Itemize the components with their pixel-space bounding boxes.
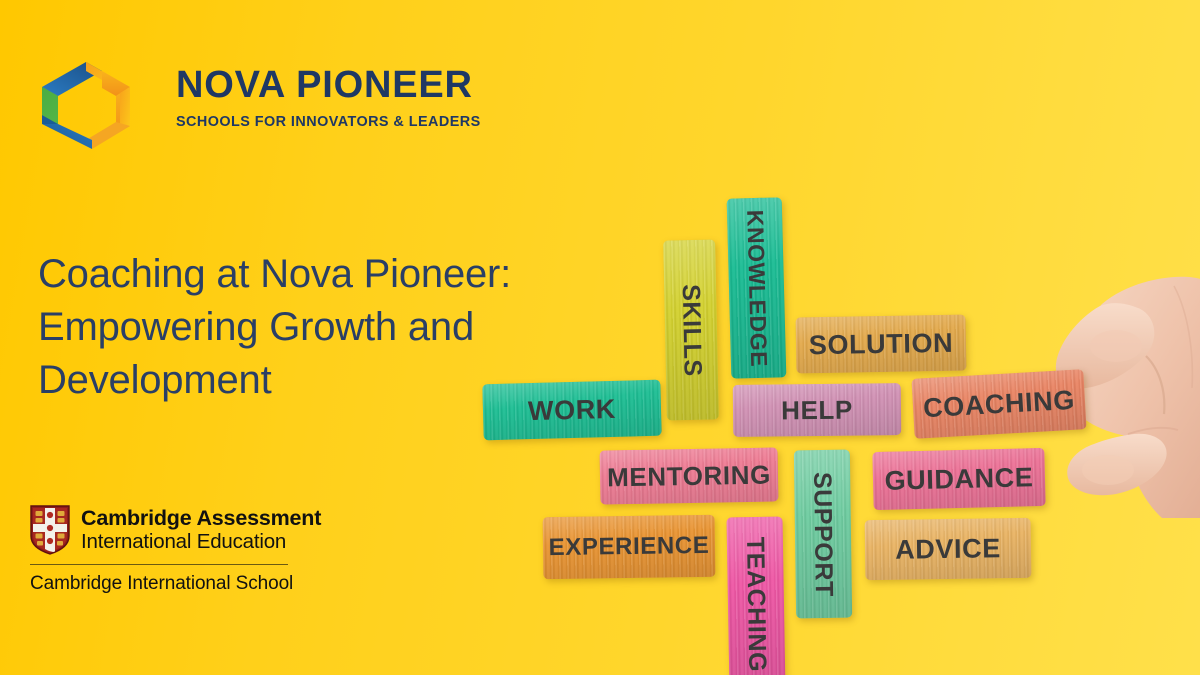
cambridge-line-3: Cambridge International School (30, 573, 310, 595)
block-label: MENTORING (607, 459, 771, 493)
block-label: TEACHING (740, 537, 771, 673)
block-label: ADVICE (895, 533, 1001, 565)
nova-pioneer-wordmark: NOVA PIONEER SCHOOLS FOR INNOVATORS & LE… (176, 66, 481, 130)
headline-line-1: Coaching at Nova Pioneer: (38, 248, 638, 301)
cambridge-line-1: Cambridge Assessment (81, 506, 321, 530)
cambridge-divider (30, 564, 288, 565)
cambridge-accreditation-logo: Cambridge Assessment International Educa… (30, 505, 310, 595)
slide-canvas: NOVA PIONEER SCHOOLS FOR INNOVATORS & LE… (0, 0, 1200, 675)
word-block-skills: SKILLS (663, 239, 719, 420)
block-label: KNOWLEDGE (741, 209, 772, 367)
word-block-teaching: TEACHING (726, 517, 785, 675)
cambridge-shield-crest-icon (30, 505, 70, 555)
block-label: SOLUTION (809, 327, 954, 361)
word-block-solution: SOLUTION (796, 315, 967, 374)
block-label: EXPERIENCE (548, 532, 709, 562)
word-block-coaching: COACHING (911, 369, 1086, 439)
block-label: GUIDANCE (884, 462, 1034, 497)
brand-tagline: SCHOOLS FOR INNOVATORS & LEADERS (176, 114, 481, 130)
cambridge-wordmark: Cambridge Assessment International Educa… (81, 505, 321, 554)
word-block-support: SUPPORT (794, 450, 852, 619)
word-block-mentoring: MENTORING (600, 447, 779, 504)
block-label: SKILLS (676, 283, 707, 376)
word-block-knowledge: KNOWLEDGE (727, 197, 787, 378)
block-label: HELP (781, 394, 853, 426)
cambridge-logo-top: Cambridge Assessment International Educa… (30, 505, 310, 555)
brand-name: NOVA PIONEER (176, 66, 481, 104)
word-block-work: WORK (482, 380, 661, 441)
word-block-help: HELP (733, 383, 902, 437)
cambridge-line-2: International Education (81, 530, 321, 554)
block-label: COACHING (922, 384, 1075, 423)
nova-pioneer-logo: NOVA PIONEER SCHOOLS FOR INNOVATORS & LE… (36, 58, 416, 153)
headline-line-2: Empowering Growth and (38, 301, 638, 354)
nova-pioneer-hexagon-icon (36, 60, 140, 152)
word-block-advice: ADVICE (865, 518, 1032, 580)
block-label: SUPPORT (808, 471, 839, 596)
word-block-guidance: GUIDANCE (872, 448, 1045, 510)
block-label: WORK (528, 393, 617, 426)
word-block-experience: EXPERIENCE (543, 515, 716, 579)
